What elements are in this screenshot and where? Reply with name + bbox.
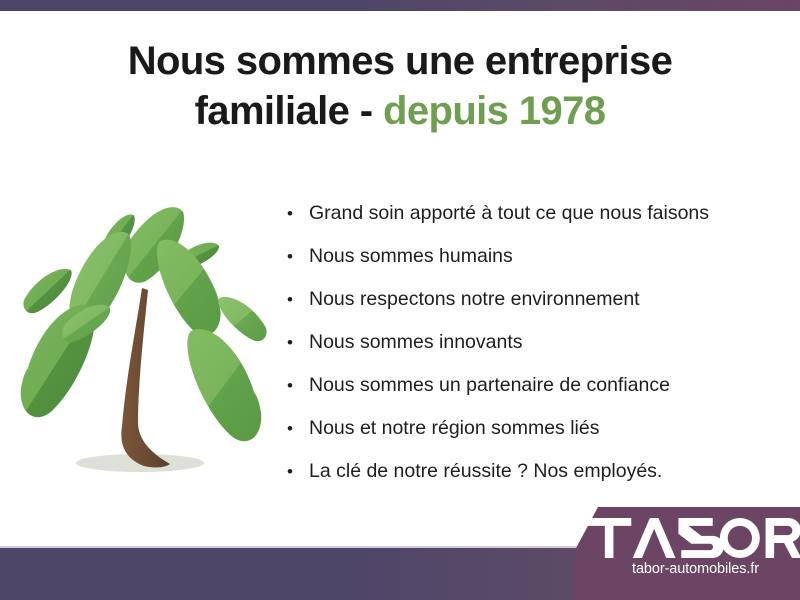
- value-bullet-list: Grand soin apporté à tout ce que nous fa…: [286, 192, 786, 493]
- page-title: Nous sommes une entreprise familiale - d…: [0, 36, 800, 136]
- brand-logo[interactable]: tabor-automobiles.fr: [575, 505, 800, 600]
- headline-line-2-plain: familiale -: [195, 89, 383, 133]
- tree-trunk: [121, 288, 170, 467]
- headline-line-2: familiale - depuis 1978: [0, 86, 800, 136]
- top-accent-band: [0, 0, 800, 11]
- list-item: Grand soin apporté à tout ce que nous fa…: [286, 192, 786, 235]
- tree-illustration: [18, 178, 282, 490]
- list-item: Nous sommes humains: [286, 235, 786, 278]
- slide-canvas: Nous sommes une entreprise familiale - d…: [0, 0, 800, 600]
- list-item: Nous sommes un partenaire de confiance: [286, 364, 786, 407]
- headline-line-1: Nous sommes une entreprise: [0, 36, 800, 86]
- logo-domain-text: tabor-automobiles.fr: [632, 561, 759, 577]
- list-item: Nous sommes innovants: [286, 321, 786, 364]
- list-item: Nous et notre région sommes liés: [286, 407, 786, 450]
- headline-accent: depuis 1978: [383, 89, 605, 133]
- list-item: La clé de notre réussite ? Nos employés.: [286, 450, 786, 493]
- tree-svg: [18, 178, 282, 490]
- tabor-wordmark-icon: [587, 518, 800, 558]
- list-item: Nous respectons notre environnement: [286, 278, 786, 321]
